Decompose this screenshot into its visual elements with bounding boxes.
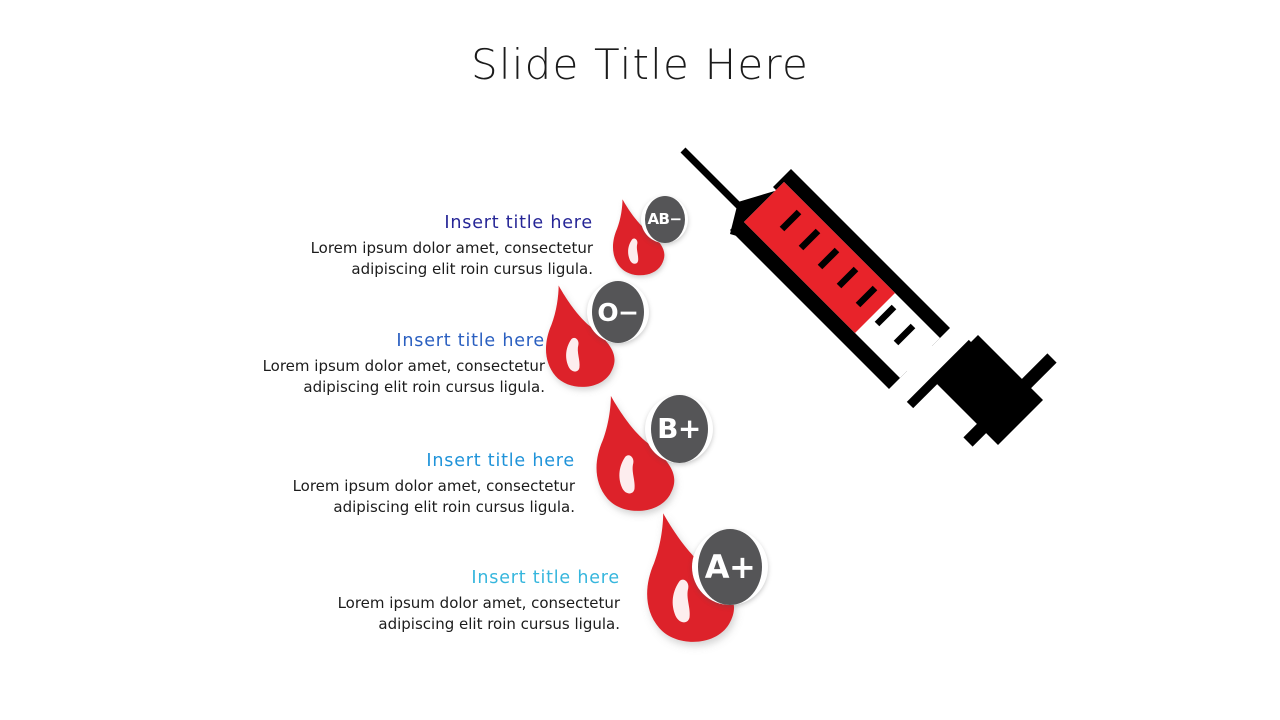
block-body-4: Lorem ipsum dolor amet, consectetur adip… <box>275 593 620 635</box>
badge-circle: O− <box>592 281 644 343</box>
blood-type-badge-o-negative[interactable]: O− <box>587 281 649 343</box>
block-title-1: Insert title here <box>248 212 593 234</box>
slide-canvas: Slide Title Here Insert title here Lorem… <box>0 0 1280 720</box>
syringe-illustration[interactable] <box>660 130 1080 490</box>
blood-drop-a-positive[interactable]: A+ <box>642 508 774 653</box>
page-title: Slide Title Here <box>0 40 1280 89</box>
block-title-2: Insert title here <box>200 330 545 352</box>
text-block-2: Insert title here Lorem ipsum dolor amet… <box>200 330 545 398</box>
text-block-4: Insert title here Lorem ipsum dolor amet… <box>275 567 620 635</box>
blood-type-badge-a-positive[interactable]: A+ <box>692 529 768 605</box>
block-title-4: Insert title here <box>275 567 620 589</box>
badge-label: O− <box>597 300 638 325</box>
block-body-3: Lorem ipsum dolor amet, consectetur adip… <box>230 476 575 518</box>
badge-label: A+ <box>705 551 756 583</box>
block-title-3: Insert title here <box>230 450 575 472</box>
block-body-2: Lorem ipsum dolor amet, consectetur adip… <box>200 356 545 398</box>
syringe-needle <box>683 150 746 213</box>
text-block-3: Insert title here Lorem ipsum dolor amet… <box>230 450 575 518</box>
blood-drop-o-negative[interactable]: O− <box>542 281 646 396</box>
text-block-1: Insert title here Lorem ipsum dolor amet… <box>248 212 593 280</box>
block-body-1: Lorem ipsum dolor amet, consectetur adip… <box>248 238 593 280</box>
badge-circle: A+ <box>698 529 762 605</box>
